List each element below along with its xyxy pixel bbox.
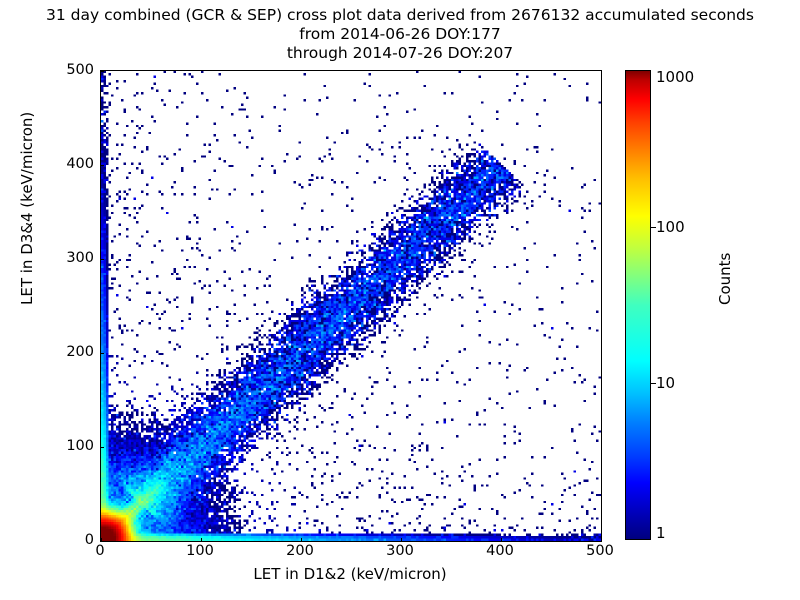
colorbar-tick-label: 1 <box>656 524 666 542</box>
x-tick <box>501 538 502 542</box>
x-tick <box>301 538 302 542</box>
title-line-2: from 2014-06-26 DOY:177 <box>0 25 800 44</box>
x-tick-label: 500 <box>586 543 614 559</box>
y-tick-label: 400 <box>66 156 94 172</box>
colorbar-axis-label: Counts <box>716 253 734 305</box>
y-tick-label: 100 <box>66 438 94 454</box>
x-tick <box>601 538 602 542</box>
scatter-heatmap <box>101 71 601 541</box>
x-tick <box>401 538 402 542</box>
x-axis-label: LET in D1&2 (keV/micron) <box>100 565 600 583</box>
y-axis-label: LET in D3&4 (keV/micron) <box>18 112 36 305</box>
y-tick <box>100 447 104 448</box>
y-tick-label: 0 <box>85 532 94 548</box>
x-tick-label: 200 <box>286 543 314 559</box>
y-tick <box>100 165 104 166</box>
y-tick <box>100 353 104 354</box>
figure-canvas: 31 day combined (GCR & SEP) cross plot d… <box>0 0 800 600</box>
x-tick-label: 300 <box>386 543 414 559</box>
y-tick <box>100 259 104 260</box>
plot-area <box>100 70 602 542</box>
title-line-1: 31 day combined (GCR & SEP) cross plot d… <box>0 6 800 25</box>
x-tick-label: 100 <box>186 543 214 559</box>
y-tick-label: 500 <box>66 62 94 78</box>
y-tick <box>100 541 104 542</box>
y-tick-label: 300 <box>66 250 94 266</box>
chart-title: 31 day combined (GCR & SEP) cross plot d… <box>0 6 800 63</box>
y-tick <box>100 71 104 72</box>
colorbar <box>625 70 651 540</box>
y-tick-label: 200 <box>66 344 94 360</box>
colorbar-gradient <box>625 70 651 540</box>
colorbar-tick-label: 100 <box>656 218 685 236</box>
x-tick <box>201 538 202 542</box>
colorbar-tick-label: 10 <box>656 374 675 392</box>
x-tick-label: 0 <box>95 543 104 559</box>
x-tick-label: 400 <box>486 543 514 559</box>
title-line-3: through 2014-07-26 DOY:207 <box>0 44 800 63</box>
colorbar-tick-label: 1000 <box>656 68 694 86</box>
